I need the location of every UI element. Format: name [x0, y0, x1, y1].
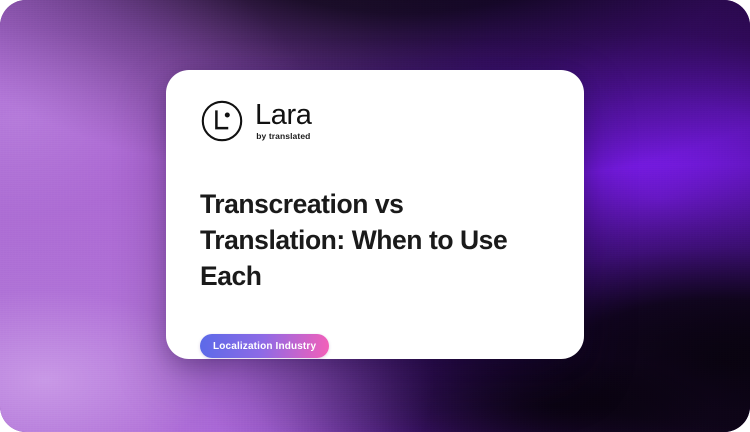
brand-name: Lara — [255, 100, 311, 130]
blog-card-banner: Lara by translated Transcreation vs Tran… — [0, 0, 750, 432]
tag-localization-industry[interactable]: Localization Industry — [200, 334, 329, 358]
content-card: Lara by translated Transcreation vs Tran… — [166, 70, 584, 359]
tag-list: Localization Industry — [200, 334, 550, 358]
lara-circle-l-logo-icon — [200, 99, 244, 143]
brand-wordmark: Lara by translated — [255, 100, 311, 142]
card-headline: Transcreation vs Translation: When to Us… — [200, 186, 550, 294]
brand-lockup[interactable]: Lara by translated — [200, 99, 550, 143]
brand-tagline: by translated — [256, 131, 311, 142]
